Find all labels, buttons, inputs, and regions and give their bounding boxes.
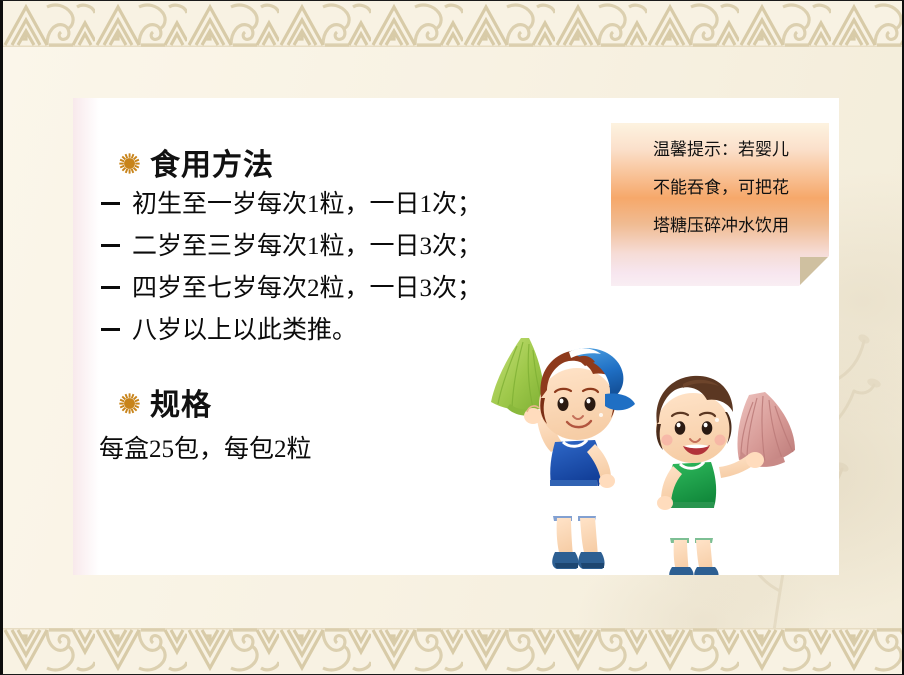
tip-note-line: 不能吞食，可把花 bbox=[625, 179, 817, 196]
note-fold-corner-icon bbox=[799, 256, 829, 286]
bottom-ornamental-border bbox=[3, 628, 902, 674]
dash-icon bbox=[101, 328, 120, 331]
list-item-label: 四岁至七岁每次2粒，一日3次； bbox=[132, 276, 482, 301]
list-item-label: 初生至一岁每次1粒，一日1次； bbox=[132, 192, 482, 217]
content-card: 食用方法 初生至一岁每次1粒，一日1次； 二岁至三岁每次1粒，一日3次； 四岁至… bbox=[73, 98, 839, 575]
dash-icon bbox=[101, 286, 120, 289]
list-item-label: 八岁以上以此类推。 bbox=[132, 318, 357, 343]
list-item: 二岁至三岁每次1粒，一日3次； bbox=[101, 234, 482, 259]
dash-icon bbox=[101, 202, 120, 205]
list-item: 四岁至七岁每次2粒，一日3次； bbox=[101, 276, 482, 301]
dosage-list: 初生至一岁每次1粒，一日1次； 二岁至三岁每次1粒，一日3次； 四岁至七岁每次2… bbox=[101, 192, 482, 360]
children-illustration bbox=[477, 320, 817, 575]
list-item: 初生至一岁每次1粒，一日1次； bbox=[101, 192, 482, 217]
tip-note-line: 温馨提示：若婴儿 bbox=[625, 141, 817, 158]
slide-canvas: 食用方法 初生至一岁每次1粒，一日1次； 二岁至三岁每次1粒，一日3次； 四岁至… bbox=[0, 0, 904, 675]
spec-heading-label: 规格 bbox=[150, 380, 212, 424]
list-item-label: 二岁至三岁每次1粒，一日3次； bbox=[132, 234, 482, 259]
usage-heading: 食用方法 bbox=[119, 140, 274, 184]
list-item: 八岁以上以此类推。 bbox=[101, 318, 482, 343]
pink-leaf bbox=[737, 392, 795, 467]
sun-bullet-icon bbox=[119, 153, 140, 174]
sun-bullet-icon bbox=[119, 393, 140, 414]
tip-note-line: 塔糖压碎冲水饮用 bbox=[625, 217, 817, 234]
tip-note: 温馨提示：若婴儿 不能吞食，可把花 塔糖压碎冲水饮用 bbox=[611, 123, 829, 286]
green-leaf bbox=[491, 338, 544, 415]
spec-text: 每盒25包，每包2粒 bbox=[99, 429, 312, 465]
spec-heading: 规格 bbox=[119, 380, 212, 424]
top-ornamental-border bbox=[3, 1, 902, 47]
usage-heading-label: 食用方法 bbox=[150, 140, 274, 184]
dash-icon bbox=[101, 244, 120, 247]
